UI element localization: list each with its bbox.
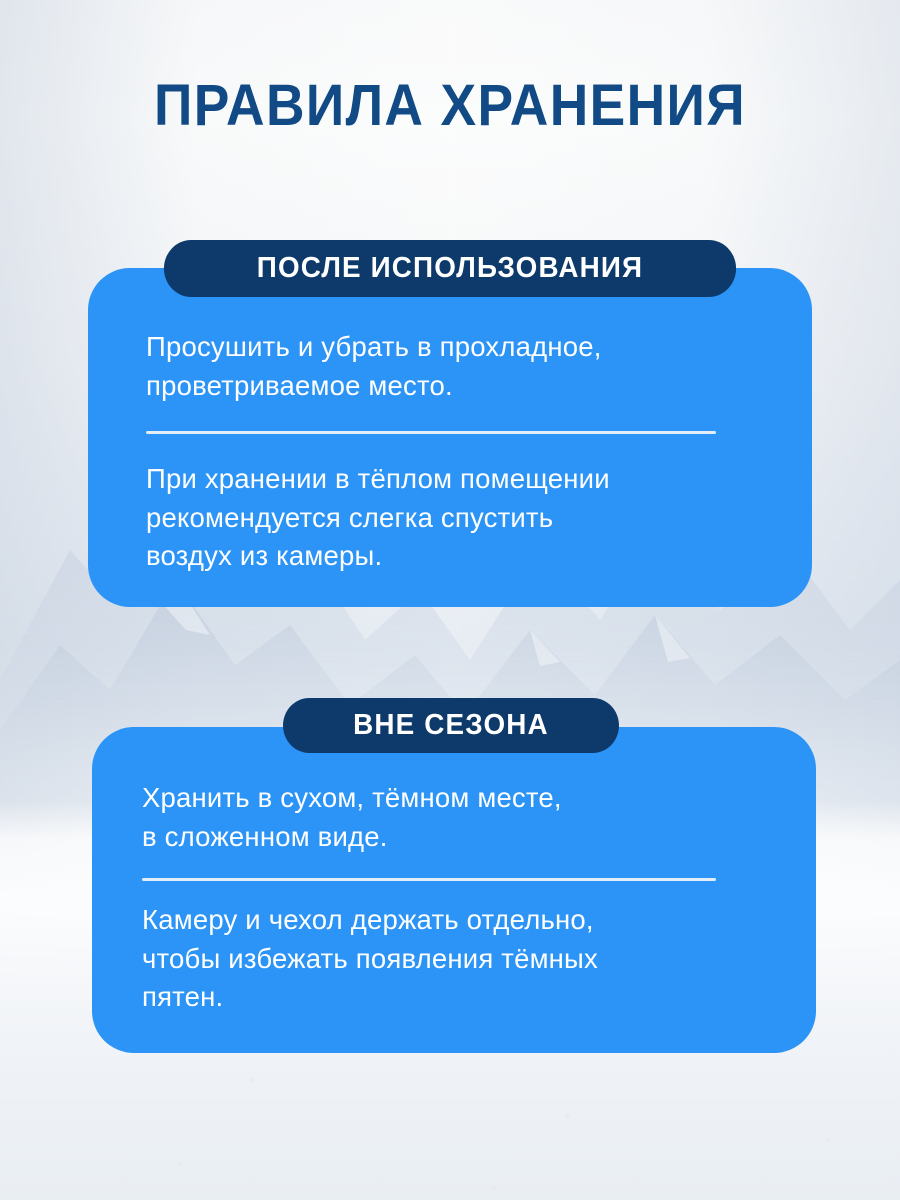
card-after-use-header-pill: ПОСЛЕ ИСПОЛЬЗОВАНИЯ [164,240,736,297]
card-off-season-header-pill: ВНЕ СЕЗОНА [283,698,619,753]
card-off-season-body: Хранить в сухом, тёмном месте, в сложенн… [92,727,816,1017]
card-off-season: Хранить в сухом, тёмном месте, в сложенн… [92,727,816,1053]
card-off-season-paragraph-2: Камеру и чехол держать отдельно, чтобы и… [142,901,764,1017]
card-off-season-paragraph-1: Хранить в сухом, тёмном месте, в сложенн… [142,779,764,856]
card-off-season-divider [142,878,716,881]
card-after-use-paragraph-2: При хранении в тёплом помещении рекоменд… [146,460,760,576]
card-after-use-body: Просушить и убрать в прохладное, проветр… [88,268,812,576]
card-after-use: Просушить и убрать в прохладное, проветр… [88,268,812,607]
card-after-use-paragraph-1: Просушить и убрать в прохладное, проветр… [146,328,760,405]
page-title: ПРАВИЛА ХРАНЕНИЯ [36,76,864,137]
card-after-use-divider [146,431,716,434]
infographic-page: ПРАВИЛА ХРАНЕНИЯ Просушить и убрать в пр… [0,0,900,1200]
